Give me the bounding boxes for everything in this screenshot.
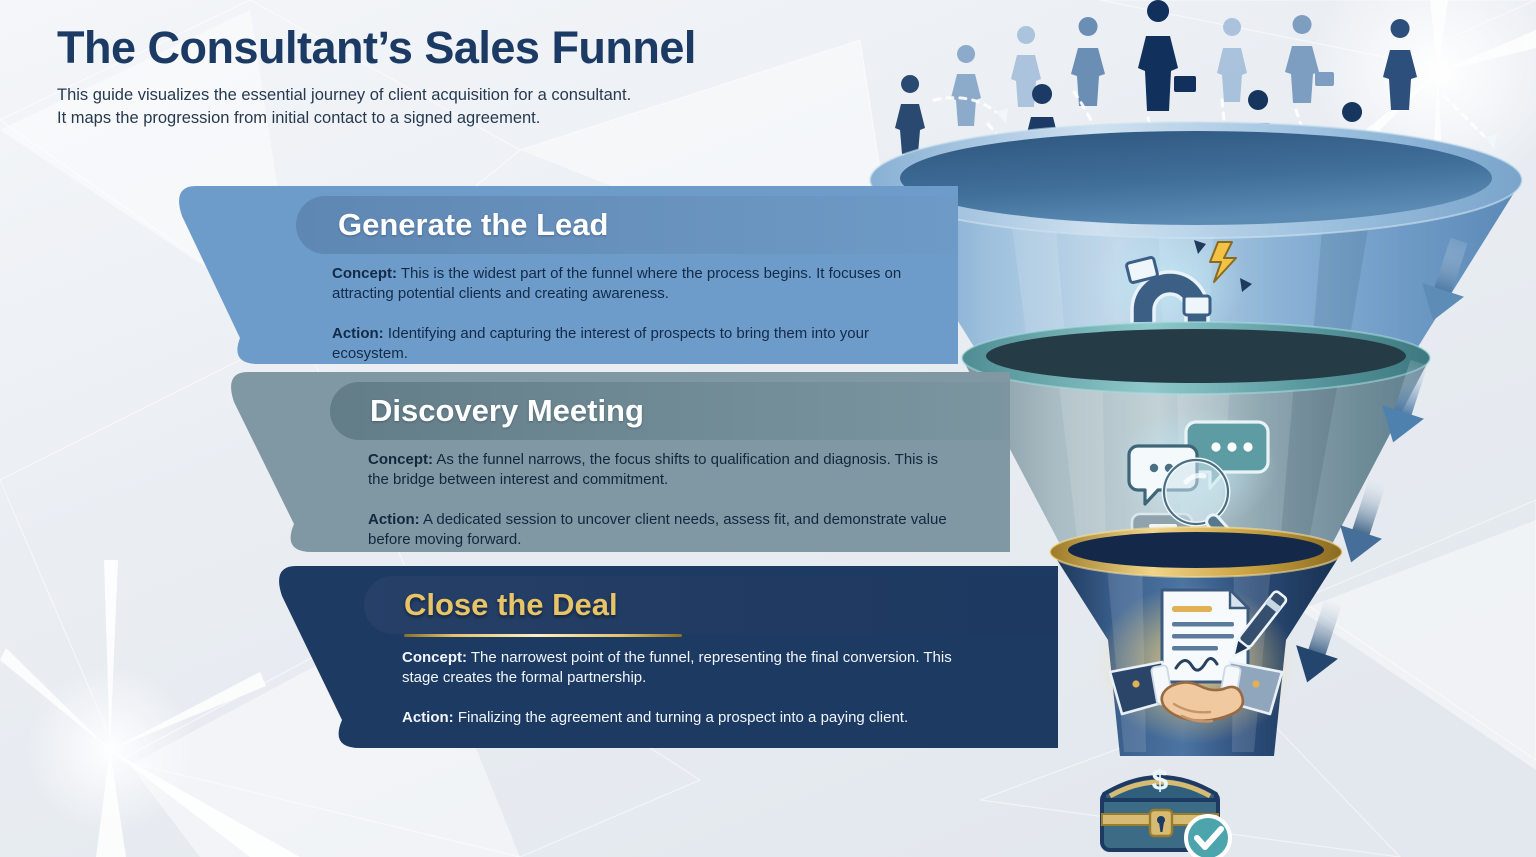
stage-3-action: Action: Finalizing the agreement and tur… xyxy=(402,708,977,728)
stage-panel-close-the-deal[interactable]: Close the Deal Concept: The narrowest po… xyxy=(268,566,1058,748)
stage-2-concept-text: As the funnel narrows, the focus shifts … xyxy=(368,451,938,488)
stage-2-concept-label: Concept: xyxy=(368,451,433,468)
stage-1-title: Generate the Lead xyxy=(338,209,608,240)
stage-3-concept: Concept: The narrowest point of the funn… xyxy=(402,648,977,689)
page-subtitle: This guide visualizes the essential jour… xyxy=(57,84,696,131)
stage-3-concept-text: The narrowest point of the funnel, repre… xyxy=(402,649,952,686)
subtitle-line-2: It maps the progression from initial con… xyxy=(57,107,696,130)
stage-2-action: Action: A dedicated session to uncover c… xyxy=(368,510,948,551)
handshake-contract-icon xyxy=(1096,584,1296,744)
stage-1-concept-label: Concept: xyxy=(332,265,397,282)
subtitle-line-1: This guide visualizes the essential jour… xyxy=(57,84,696,107)
stage-1-action: Action: Identifying and capturing the in… xyxy=(332,324,917,365)
stage-2-action-label: Action: xyxy=(368,511,420,528)
stage-3-gold-underline xyxy=(404,634,682,637)
treasure-chest-icon: $ xyxy=(1102,764,1230,857)
stage-1-action-label: Action: xyxy=(332,325,384,342)
stage-3-action-label: Action: xyxy=(402,709,454,726)
stage-1-action-text: Identifying and capturing the interest o… xyxy=(332,325,869,362)
stage-3-action-text: Finalizing the agreement and turning a p… xyxy=(454,709,908,726)
stage-2-title: Discovery Meeting xyxy=(370,395,644,426)
stage-2-concept: Concept: As the funnel narrows, the focu… xyxy=(368,450,948,491)
stage-2-action-text: A dedicated session to uncover client ne… xyxy=(368,511,947,548)
svg-text:$: $ xyxy=(1152,764,1169,797)
stage-panel-generate-the-lead[interactable]: Generate the Lead Concept: This is the w… xyxy=(168,186,958,364)
stage-1-concept: Concept: This is the widest part of the … xyxy=(332,264,917,305)
stage-panel-discovery-meeting[interactable]: Discovery Meeting Concept: As the funnel… xyxy=(220,372,1010,552)
stage-1-body: Concept: This is the widest part of the … xyxy=(332,264,917,365)
funnel-tier-lead xyxy=(870,122,1522,350)
stage-3-concept-label: Concept: xyxy=(402,649,467,666)
stage-3-body: Concept: The narrowest point of the funn… xyxy=(402,648,977,728)
stage-1-concept-text: This is the widest part of the funnel wh… xyxy=(332,265,901,302)
funnel-tier-close xyxy=(1050,527,1342,756)
stage-3-title: Close the Deal xyxy=(404,589,618,620)
header: The Consultant’s Sales Funnel This guide… xyxy=(57,24,696,130)
page-title: The Consultant’s Sales Funnel xyxy=(57,24,696,73)
stage-2-body: Concept: As the funnel narrows, the focu… xyxy=(368,450,948,551)
